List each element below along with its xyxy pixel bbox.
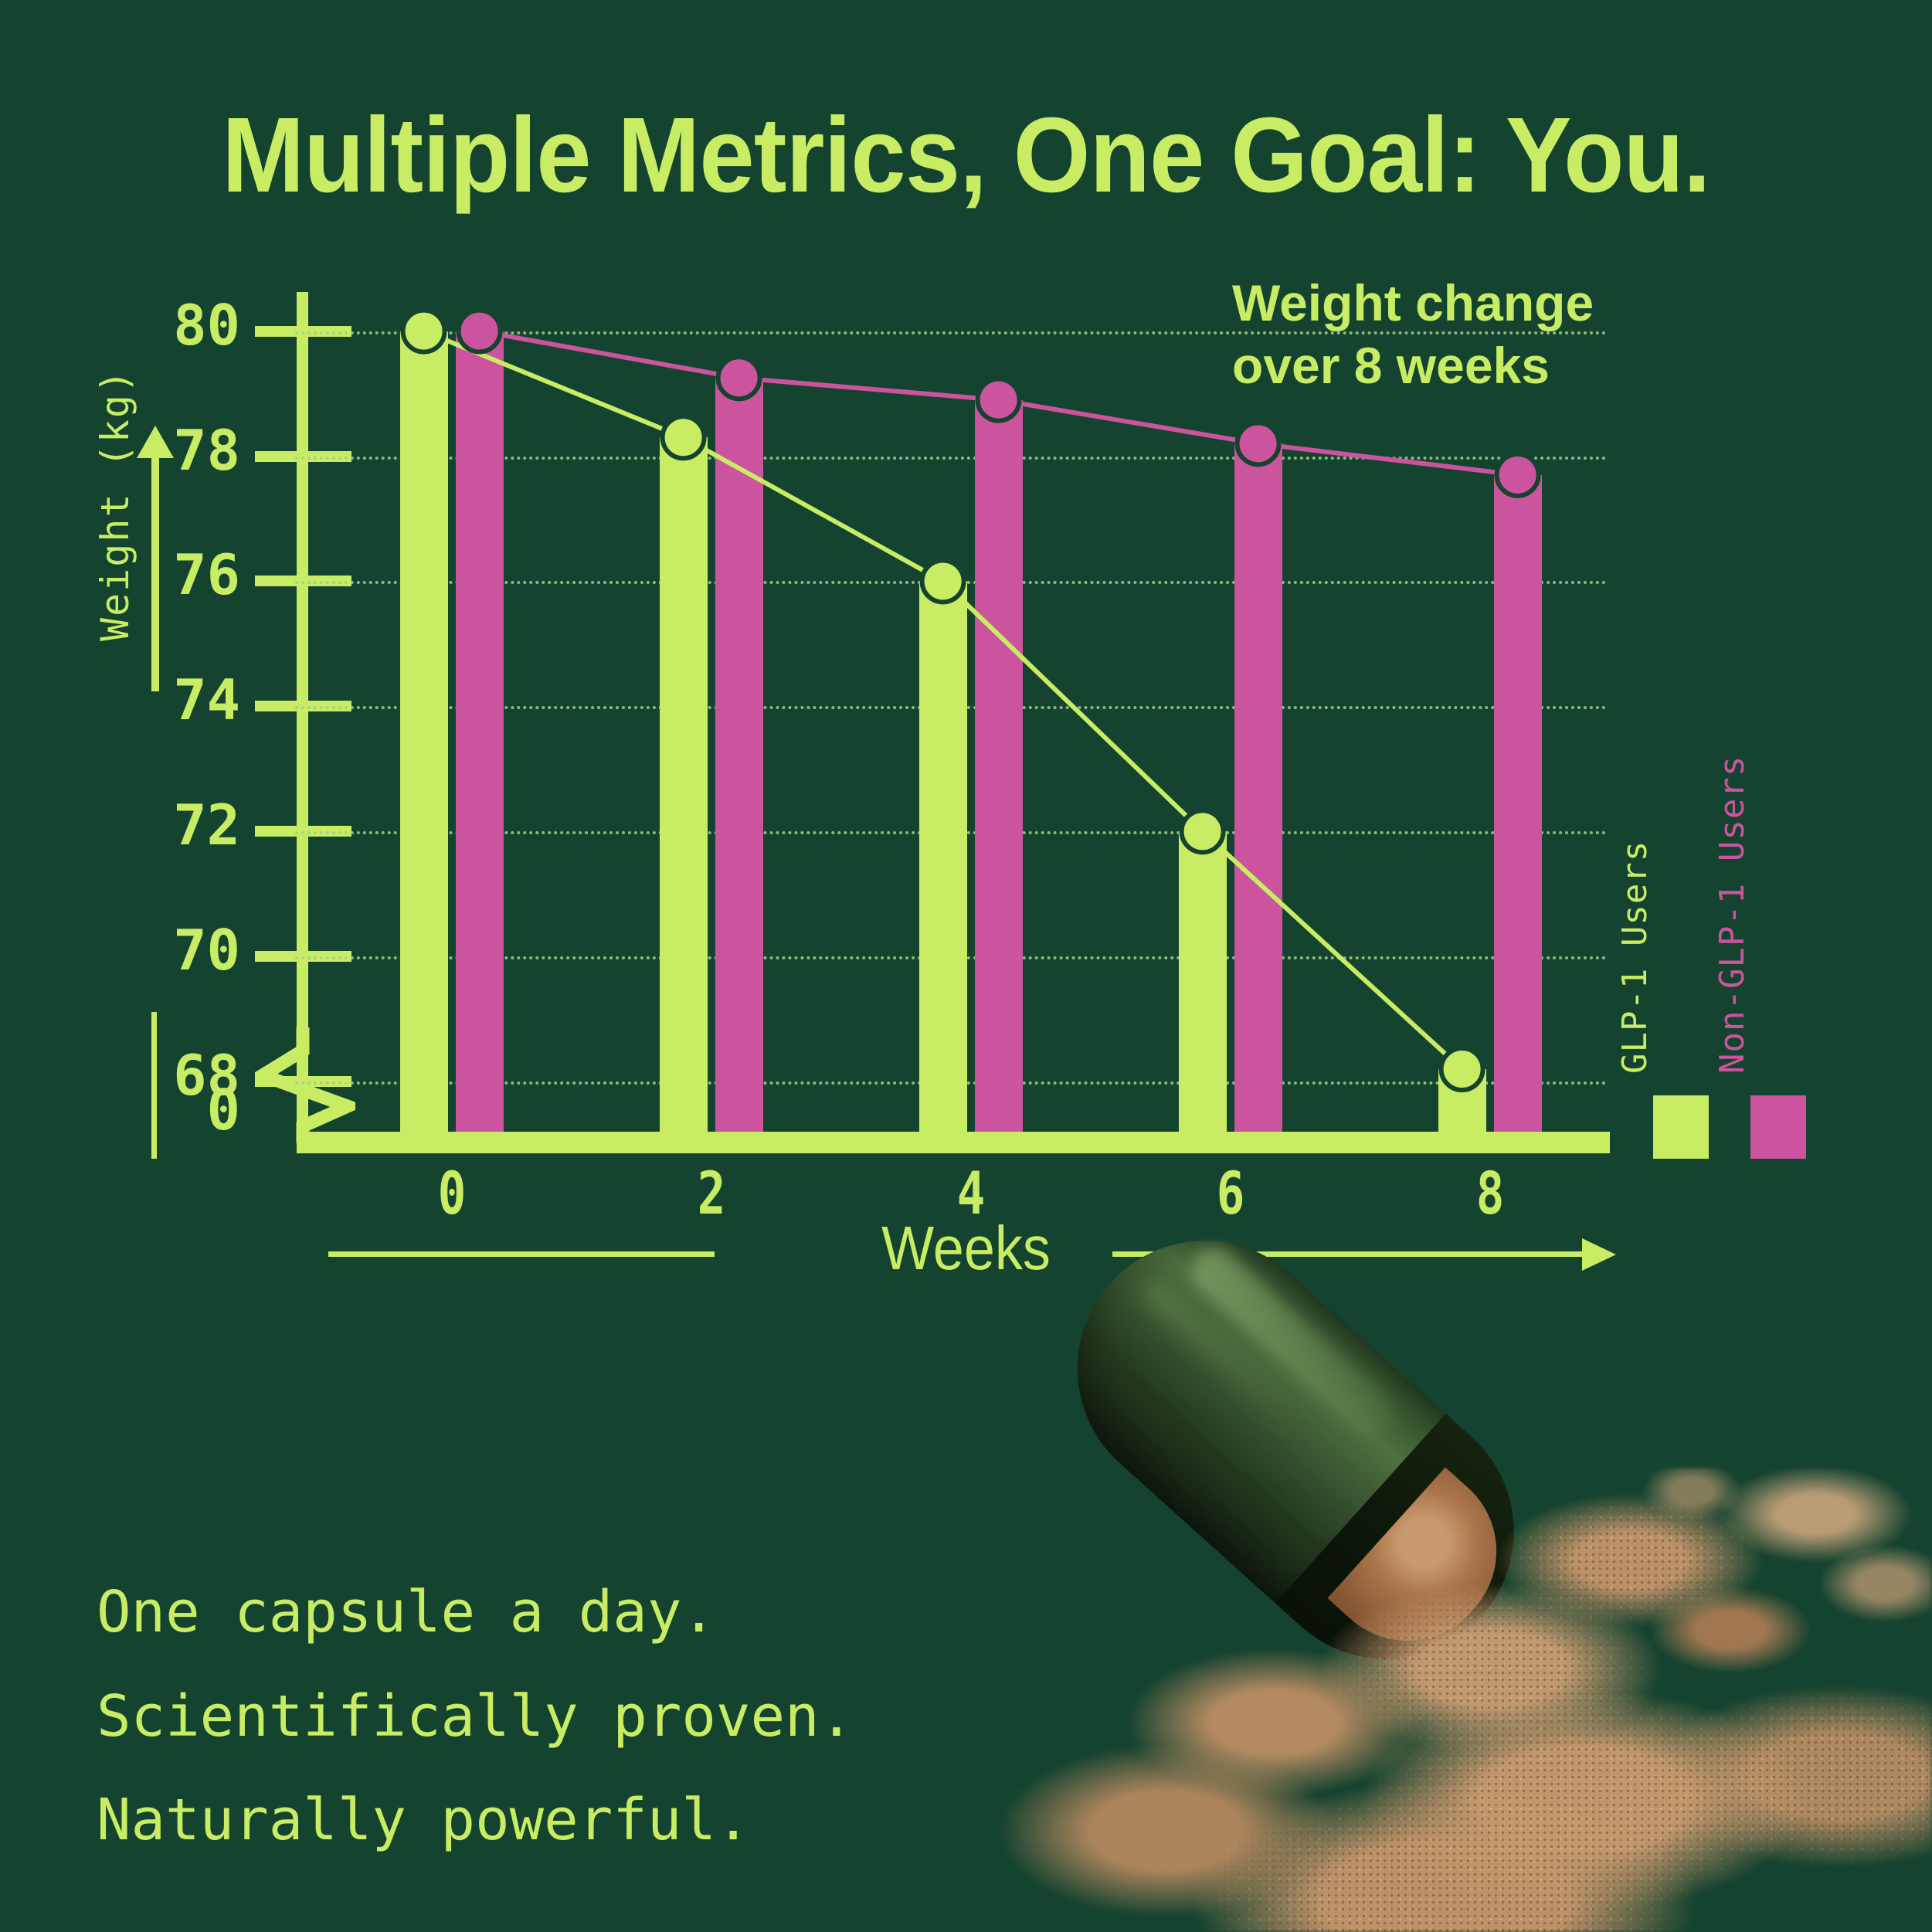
- data-point-marker: [1497, 454, 1539, 496]
- chart-legend: GLP-1 Users Non-GLP-1 Users: [1653, 680, 1885, 1159]
- legend-swatch-non-glp1: [1750, 1095, 1806, 1159]
- data-point-marker: [459, 311, 501, 352]
- annotation-line-1: Weight change: [1232, 272, 1595, 334]
- chart-container: Weight (kg) 687072747678800 02468 Weeks …: [0, 0, 1932, 1313]
- y-axis-spine: [297, 292, 308, 1134]
- line-glp-1-users: [424, 331, 1462, 1069]
- plot-area: [309, 294, 1607, 1132]
- x-axis-left-rule: [328, 1251, 715, 1257]
- line-overlay: [309, 294, 1607, 1132]
- data-point-marker: [1182, 810, 1224, 852]
- y-axis-tick-label: 80: [55, 293, 240, 358]
- data-point-marker: [718, 357, 760, 399]
- data-point-marker: [1441, 1048, 1483, 1090]
- y-axis-tick-label: 70: [55, 918, 240, 983]
- data-point-marker: [1238, 423, 1279, 464]
- y-axis-zero-label: 0: [55, 1078, 240, 1143]
- tagline-line-2: Scientifically proven.: [97, 1665, 854, 1769]
- data-point-marker: [403, 311, 445, 352]
- powder-grain-texture: [950, 1468, 1932, 1932]
- y-axis-tick-label: 76: [55, 542, 240, 607]
- y-axis-tick-label: 78: [55, 418, 240, 483]
- tagline-line-1: One capsule a day.: [97, 1560, 854, 1665]
- annotation-line-2: over 8 weeks: [1232, 334, 1595, 397]
- data-point-marker: [978, 379, 1020, 421]
- x-axis-spine: [297, 1132, 1610, 1153]
- y-axis-tick-label: 74: [55, 667, 240, 732]
- tagline-line-3: Naturally powerful.: [97, 1768, 854, 1873]
- infographic-root: Multiple Metrics, One Goal: You. Weight …: [0, 0, 1932, 1932]
- legend-label-glp1: GLP-1 Users: [1615, 840, 1655, 1074]
- data-point-marker: [922, 560, 964, 602]
- data-point-marker: [663, 416, 705, 458]
- y-axis-tick-label: 72: [55, 793, 240, 857]
- tagline: One capsule a day. Scientifically proven…: [97, 1560, 854, 1873]
- product-art: [950, 1236, 1932, 1932]
- chart-annotation: Weight change over 8 weeks: [1232, 272, 1595, 396]
- legend-label-non-glp1: Non-GLP-1 Users: [1713, 755, 1752, 1074]
- legend-swatch-glp1: [1653, 1095, 1709, 1159]
